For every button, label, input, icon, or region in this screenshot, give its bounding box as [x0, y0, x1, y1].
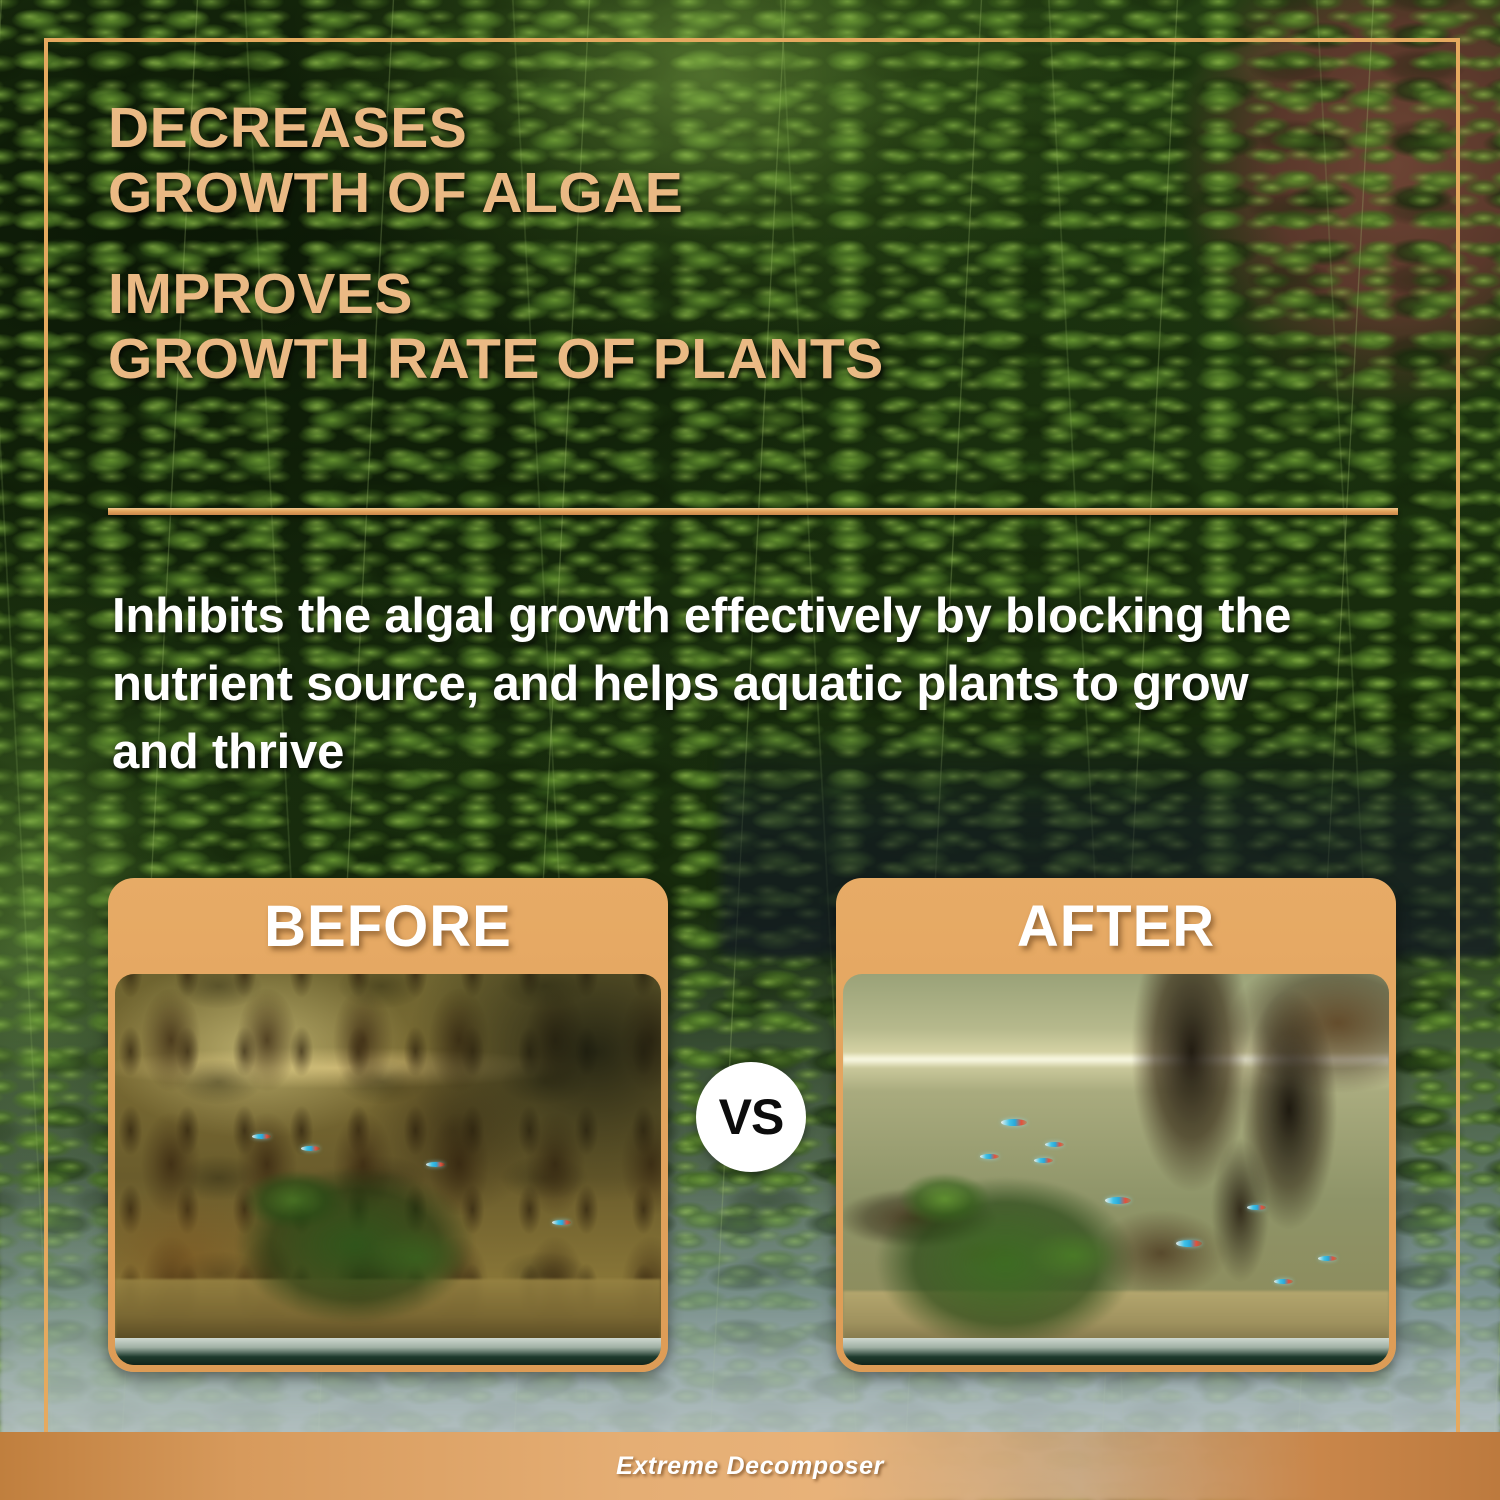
- before-moss-clump: [202, 1146, 508, 1326]
- headline-spacer: [108, 226, 1288, 262]
- headline-line-3: IMPROVES: [108, 262, 1288, 327]
- headline-line-1: DECREASES: [108, 96, 1288, 161]
- after-fish-6: [1247, 1205, 1266, 1210]
- before-fish-3: [426, 1162, 445, 1167]
- headline-line-2: GROWTH OF ALGAE: [108, 161, 1288, 226]
- after-fish-4: [1034, 1158, 1053, 1163]
- after-moss-clump: [865, 1154, 1171, 1342]
- headline-line-4: GROWTH RATE OF PLANTS: [108, 327, 1288, 392]
- vs-badge: VS: [696, 1062, 806, 1172]
- after-fish-7: [1176, 1240, 1202, 1247]
- after-fish-8: [1318, 1256, 1337, 1261]
- headline-block: DECREASES GROWTH OF ALGAE IMPROVES GROWT…: [108, 96, 1288, 392]
- before-card-title: BEFORE: [115, 878, 661, 974]
- after-card: AFTER: [836, 878, 1396, 1372]
- after-fish-5: [1105, 1197, 1131, 1204]
- body-paragraph: Inhibits the algal growth effectively by…: [112, 582, 1342, 786]
- after-fish-1: [1001, 1119, 1027, 1126]
- before-tank-rim: [115, 1338, 661, 1365]
- vs-badge-label: VS: [719, 1088, 784, 1146]
- before-fish-2: [301, 1146, 320, 1151]
- before-photo: [115, 974, 661, 1365]
- before-card: BEFORE: [108, 878, 668, 1372]
- footer-bar: Extreme Decomposer: [0, 1432, 1500, 1500]
- after-photo: [843, 974, 1389, 1365]
- after-card-title: AFTER: [843, 878, 1389, 974]
- after-tank-rim: [843, 1338, 1389, 1365]
- footer-brand-name: Extreme Decomposer: [616, 1452, 884, 1481]
- section-divider: [108, 508, 1398, 515]
- product-infographic-poster: DECREASES GROWTH OF ALGAE IMPROVES GROWT…: [0, 0, 1500, 1500]
- after-fish-3: [980, 1154, 999, 1159]
